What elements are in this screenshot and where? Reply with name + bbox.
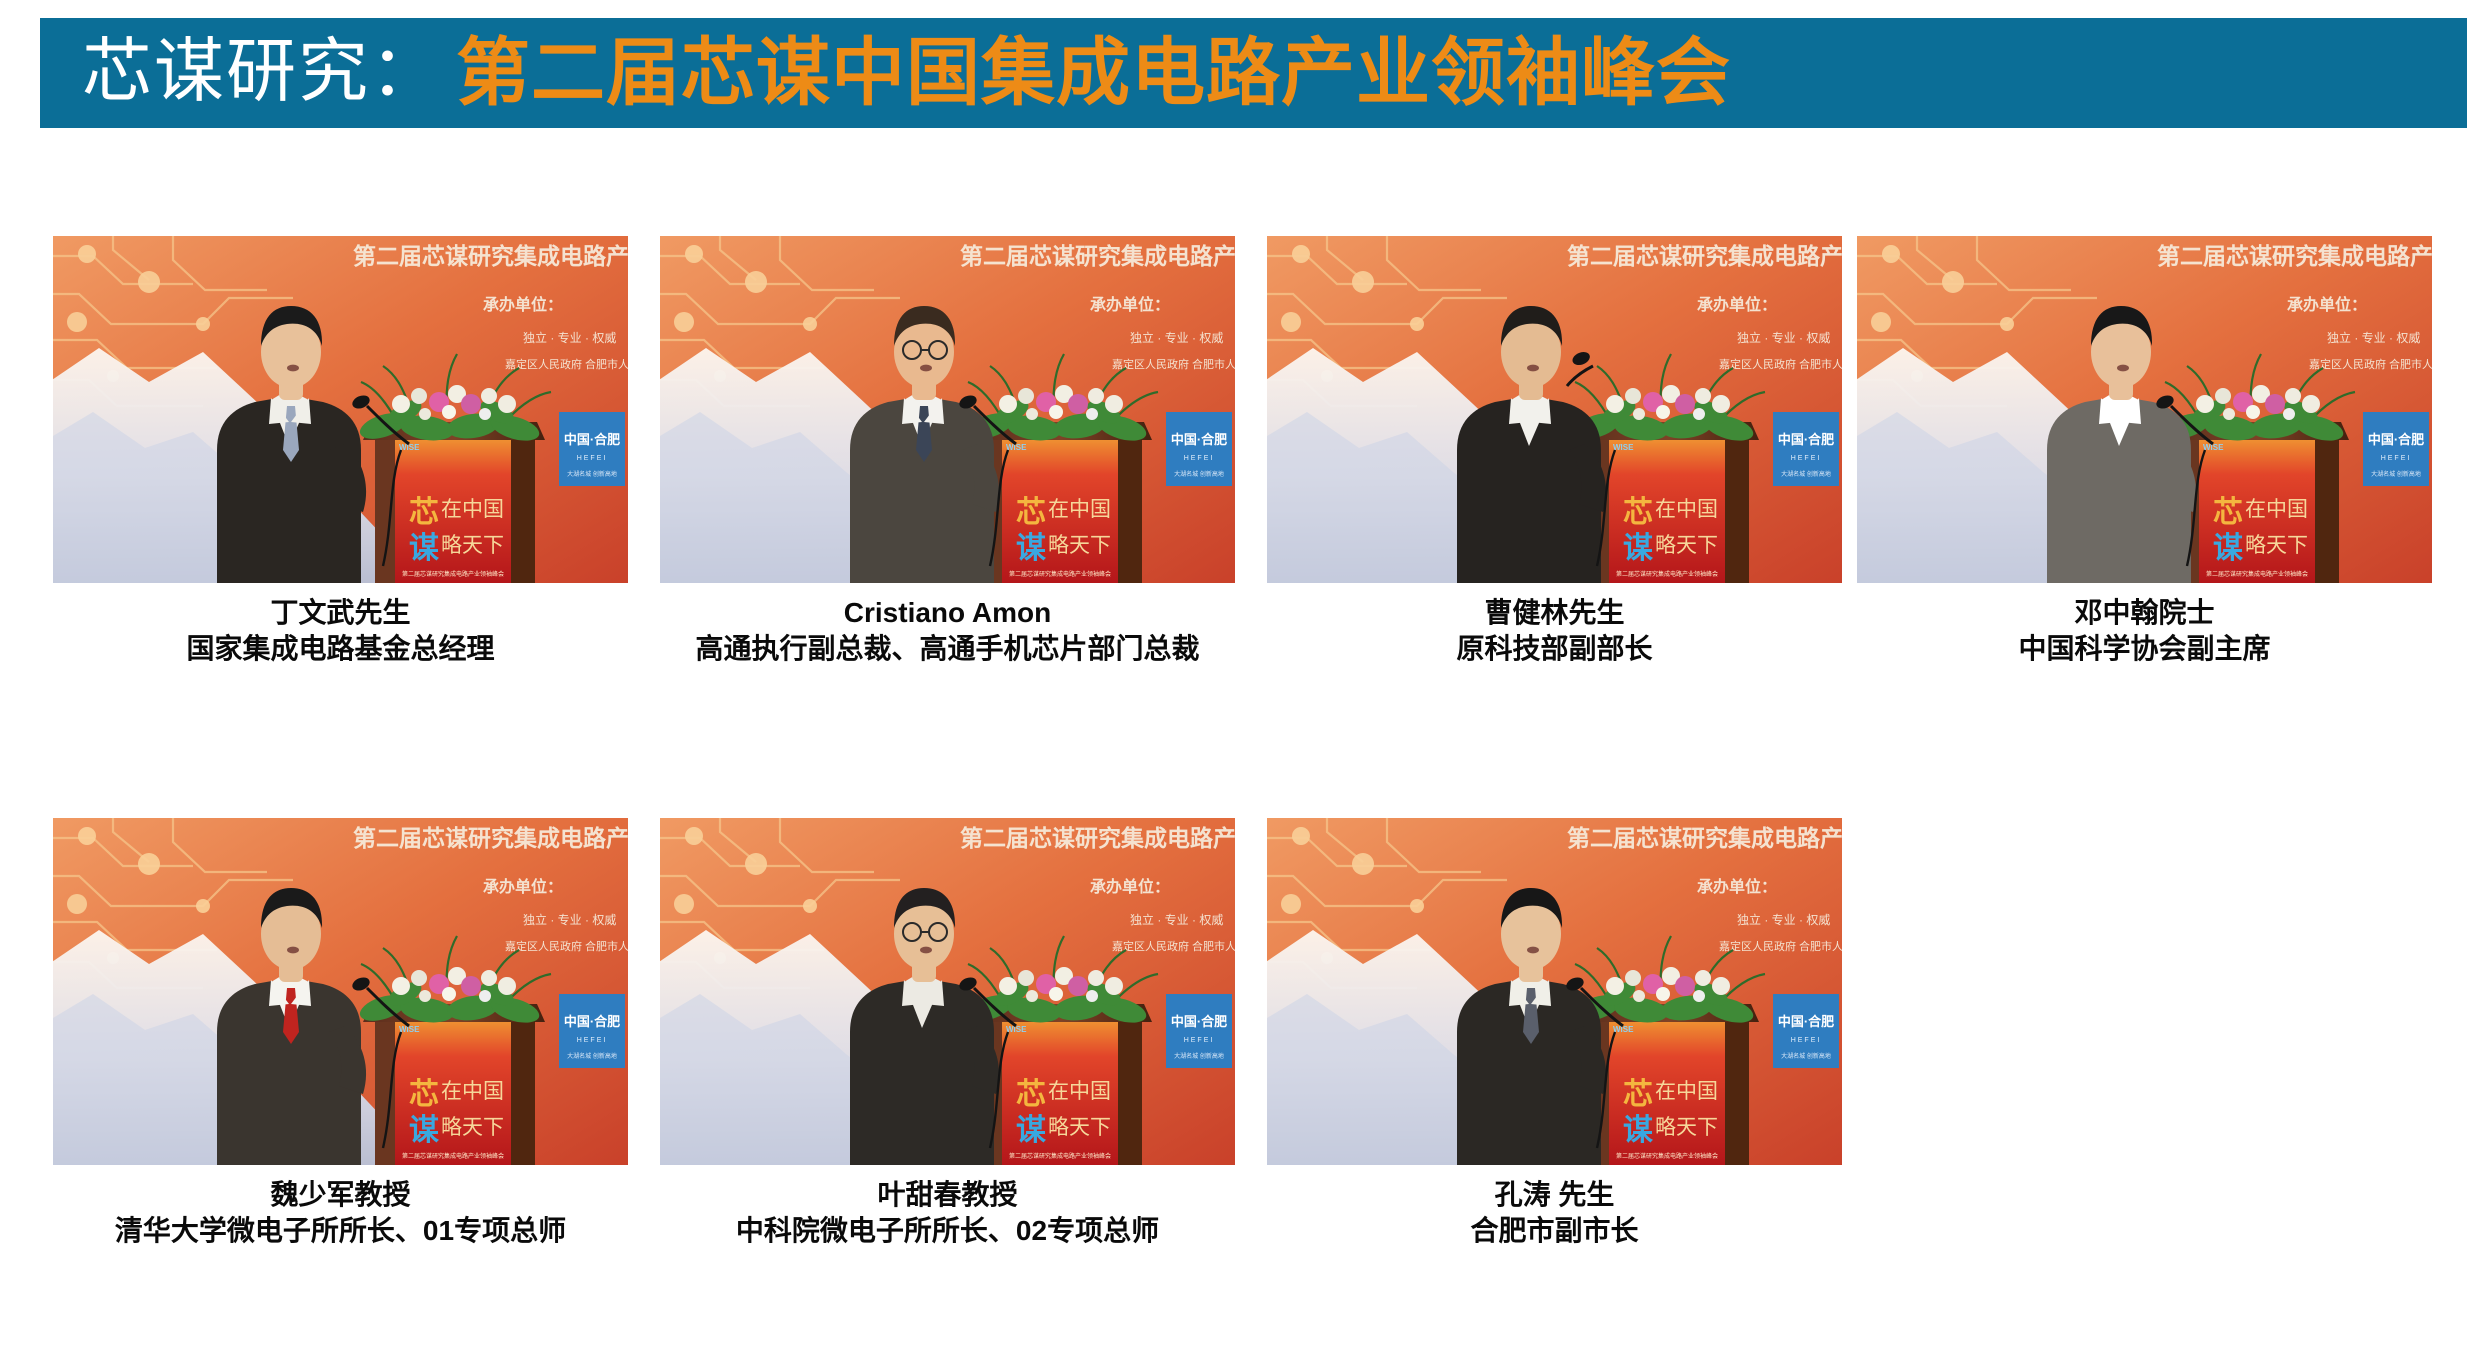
speaker-photo-ye-tianchun: 第二届芯谋研究集成电路产业领袖峰会 承办单位： 独立 · 专业 · 权威 嘉定区… (660, 818, 1235, 1165)
speaker-title: 国家集成电路基金总经理 (53, 631, 628, 667)
speaker-title: 中科院微电子所所长、02专项总师 (660, 1213, 1235, 1249)
svg-text:第二届芯谋研究集成电路产业领袖峰会: 第二届芯谋研究集成电路产业领袖峰会 (1009, 570, 1111, 578)
svg-text:谋: 谋 (1016, 1114, 1047, 1147)
svg-text:中国·合肥: 中国·合肥 (1171, 1014, 1227, 1029)
conference-photo-graphic: 第二届芯谋研究集成电路产业领袖峰会 承办单位： 独立 · 专业 · 权威 嘉定区… (53, 236, 628, 583)
svg-text:略天下: 略天下 (1048, 533, 1111, 557)
svg-text:第二届芯谋研究集成电路产业领袖峰会: 第二届芯谋研究集成电路产业领袖峰会 (2157, 243, 2432, 269)
svg-text:独立 · 专业 · 权威: 独立 · 专业 · 权威 (1130, 912, 1223, 927)
svg-text:嘉定区人民政府 合肥市人民政府: 嘉定区人民政府 合肥市人民政府 (1112, 357, 1235, 371)
svg-text:芯: 芯 (1623, 1078, 1653, 1111)
svg-text:独立 · 专业 · 权威: 独立 · 专业 · 权威 (1737, 330, 1830, 345)
svg-text:WISE: WISE (1613, 1025, 1634, 1034)
conference-photo-graphic: 第二届芯谋研究集成电路产业领袖峰会 承办单位： 独立 · 专业 · 权威 嘉定区… (1267, 236, 1842, 583)
svg-text:大湖名城 创新高地: 大湖名城 创新高地 (567, 1052, 617, 1060)
speaker-photo-cristiano-amon: 第二届芯谋研究集成电路产业领袖峰会 承办单位： 独立 · 专业 · 权威 嘉定区… (660, 236, 1235, 583)
svg-text:承办单位：: 承办单位： (483, 295, 563, 314)
svg-text:第二届芯谋研究集成电路产业领袖峰会: 第二届芯谋研究集成电路产业领袖峰会 (1567, 825, 1842, 851)
speaker-card-kong-tao: 第二届芯谋研究集成电路产业领袖峰会 承办单位： 独立 · 专业 · 权威 嘉定区… (1267, 818, 1842, 1250)
svg-text:承办单位：: 承办单位： (1697, 295, 1777, 314)
slide-title-bar: 芯谋研究： 第二届芯谋中国集成电路产业领袖峰会 (40, 18, 2467, 128)
svg-text:承办单位：: 承办单位： (483, 877, 563, 896)
svg-text:芯: 芯 (2213, 496, 2243, 529)
speaker-caption-deng-zhonghan: 邓中翰院士中国科学协会副主席 (1857, 595, 2432, 668)
svg-text:谋: 谋 (409, 1114, 440, 1147)
title-main: 第二届芯谋中国集成电路产业领袖峰会 (456, 36, 1731, 110)
speaker-name: Cristiano Amon (660, 595, 1235, 631)
svg-text:大湖名城 创新高地: 大湖名城 创新高地 (567, 470, 617, 478)
svg-text:WISE: WISE (1613, 443, 1634, 452)
speaker-title: 合肥市副市长 (1267, 1213, 1842, 1249)
conference-photo-graphic: 第二届芯谋研究集成电路产业领袖峰会 承办单位： 独立 · 专业 · 权威 嘉定区… (660, 818, 1235, 1165)
svg-text:HEFEI: HEFEI (1184, 455, 1215, 462)
speaker-caption-ding-wenwu: 丁文武先生国家集成电路基金总经理 (53, 595, 628, 668)
svg-text:大湖名城 创新高地: 大湖名城 创新高地 (1174, 470, 1224, 478)
conference-photo-graphic: 第二届芯谋研究集成电路产业领袖峰会 承办单位： 独立 · 专业 · 权威 嘉定区… (1267, 818, 1842, 1165)
svg-text:略天下: 略天下 (1655, 1115, 1718, 1139)
svg-text:第二届芯谋研究集成电路产业领袖峰会: 第二届芯谋研究集成电路产业领袖峰会 (960, 825, 1235, 851)
svg-text:在中国: 在中国 (441, 1079, 504, 1103)
speaker-card-deng-zhonghan: 第二届芯谋研究集成电路产业领袖峰会 承办单位： 独立 · 专业 · 权威 嘉定区… (1857, 236, 2432, 668)
svg-text:独立 · 专业 · 权威: 独立 · 专业 · 权威 (2327, 330, 2420, 345)
svg-text:在中国: 在中国 (441, 497, 504, 521)
svg-text:略天下: 略天下 (2245, 533, 2308, 557)
svg-text:略天下: 略天下 (441, 1115, 504, 1139)
speaker-card-ding-wenwu: 第二届芯谋研究集成电路产业领袖峰会 承办单位： 独立 · 专业 · 权威 嘉定区… (53, 236, 628, 668)
svg-text:第二届芯谋研究集成电路产业领袖峰会: 第二届芯谋研究集成电路产业领袖峰会 (402, 570, 504, 578)
svg-text:谋: 谋 (1623, 532, 1654, 565)
svg-text:在中国: 在中国 (2245, 497, 2308, 521)
svg-text:在中国: 在中国 (1048, 1079, 1111, 1103)
svg-text:HEFEI: HEFEI (577, 455, 608, 462)
conference-photo-graphic: 第二届芯谋研究集成电路产业领袖峰会 承办单位： 独立 · 专业 · 权威 嘉定区… (1857, 236, 2432, 583)
svg-text:独立 · 专业 · 权威: 独立 · 专业 · 权威 (523, 912, 616, 927)
title-prefix: 芯谋研究： (82, 38, 442, 108)
svg-text:中国·合肥: 中国·合肥 (564, 432, 620, 447)
svg-text:第二届芯谋研究集成电路产业领袖峰会: 第二届芯谋研究集成电路产业领袖峰会 (402, 1152, 504, 1160)
svg-text:谋: 谋 (409, 532, 440, 565)
conference-photo-graphic: 第二届芯谋研究集成电路产业领袖峰会 承办单位： 独立 · 专业 · 权威 嘉定区… (53, 818, 628, 1165)
svg-text:嘉定区人民政府 合肥市人民政府: 嘉定区人民政府 合肥市人民政府 (505, 357, 628, 371)
speaker-caption-ye-tianchun: 叶甜春教授中科院微电子所所长、02专项总师 (660, 1177, 1235, 1250)
svg-text:嘉定区人民政府 合肥市人民政府: 嘉定区人民政府 合肥市人民政府 (1719, 357, 1842, 371)
speaker-photo-kong-tao: 第二届芯谋研究集成电路产业领袖峰会 承办单位： 独立 · 专业 · 权威 嘉定区… (1267, 818, 1842, 1165)
svg-text:略天下: 略天下 (1048, 1115, 1111, 1139)
svg-text:HEFEI: HEFEI (577, 1037, 608, 1044)
svg-text:芯: 芯 (1623, 496, 1653, 529)
svg-text:WISE: WISE (1006, 1025, 1027, 1034)
svg-text:独立 · 专业 · 权威: 独立 · 专业 · 权威 (1130, 330, 1223, 345)
svg-text:略天下: 略天下 (1655, 533, 1718, 557)
speaker-card-cristiano-amon: 第二届芯谋研究集成电路产业领袖峰会 承办单位： 独立 · 专业 · 权威 嘉定区… (660, 236, 1235, 668)
svg-text:芯: 芯 (1016, 496, 1046, 529)
svg-text:第二届芯谋研究集成电路产业领袖峰会: 第二届芯谋研究集成电路产业领袖峰会 (2206, 570, 2308, 578)
svg-text:略天下: 略天下 (441, 533, 504, 557)
speaker-name: 孔涛 先生 (1267, 1177, 1842, 1213)
svg-text:大湖名城 创新高地: 大湖名城 创新高地 (1174, 1052, 1224, 1060)
svg-text:嘉定区人民政府 合肥市人民政府: 嘉定区人民政府 合肥市人民政府 (2309, 357, 2432, 371)
svg-text:承办单位：: 承办单位： (1090, 295, 1170, 314)
svg-text:在中国: 在中国 (1655, 1079, 1718, 1103)
svg-text:HEFEI: HEFEI (1184, 1037, 1215, 1044)
svg-text:嘉定区人民政府 合肥市人民政府: 嘉定区人民政府 合肥市人民政府 (1112, 939, 1235, 953)
svg-text:HEFEI: HEFEI (2381, 455, 2412, 462)
svg-text:芯: 芯 (409, 1078, 439, 1111)
svg-text:WISE: WISE (1006, 443, 1027, 452)
svg-text:大湖名城 创新高地: 大湖名城 创新高地 (2371, 470, 2421, 478)
speaker-name: 曹健林先生 (1267, 595, 1842, 631)
svg-text:大湖名城 创新高地: 大湖名城 创新高地 (1781, 1052, 1831, 1060)
speaker-photo-ding-wenwu: 第二届芯谋研究集成电路产业领袖峰会 承办单位： 独立 · 专业 · 权威 嘉定区… (53, 236, 628, 583)
svg-text:芯: 芯 (409, 496, 439, 529)
svg-text:HEFEI: HEFEI (1791, 1037, 1822, 1044)
speaker-photo-wei-shaojun: 第二届芯谋研究集成电路产业领袖峰会 承办单位： 独立 · 专业 · 权威 嘉定区… (53, 818, 628, 1165)
svg-text:WISE: WISE (2203, 443, 2224, 452)
svg-text:中国·合肥: 中国·合肥 (1171, 432, 1227, 447)
speaker-card-cao-jianlin: 第二届芯谋研究集成电路产业领袖峰会 承办单位： 独立 · 专业 · 权威 嘉定区… (1267, 236, 1842, 668)
svg-text:中国·合肥: 中国·合肥 (1778, 1014, 1834, 1029)
svg-text:承办单位：: 承办单位： (2287, 295, 2367, 314)
speaker-name: 叶甜春教授 (660, 1177, 1235, 1213)
speaker-title: 中国科学协会副主席 (1857, 631, 2432, 667)
svg-text:中国·合肥: 中国·合肥 (2368, 432, 2424, 447)
svg-text:芯: 芯 (1016, 1078, 1046, 1111)
svg-text:独立 · 专业 · 权威: 独立 · 专业 · 权威 (1737, 912, 1830, 927)
conference-photo-graphic: 第二届芯谋研究集成电路产业领袖峰会 承办单位： 独立 · 专业 · 权威 嘉定区… (660, 236, 1235, 583)
speaker-caption-kong-tao: 孔涛 先生合肥市副市长 (1267, 1177, 1842, 1250)
svg-text:HEFEI: HEFEI (1791, 455, 1822, 462)
svg-text:WISE: WISE (399, 443, 420, 452)
svg-text:承办单位：: 承办单位： (1697, 877, 1777, 896)
svg-text:谋: 谋 (2213, 532, 2244, 565)
svg-text:第二届芯谋研究集成电路产业领袖峰会: 第二届芯谋研究集成电路产业领袖峰会 (353, 825, 628, 851)
svg-text:大湖名城 创新高地: 大湖名城 创新高地 (1781, 470, 1831, 478)
svg-text:中国·合肥: 中国·合肥 (1778, 432, 1834, 447)
speaker-name: 魏少军教授 (53, 1177, 628, 1213)
speaker-card-ye-tianchun: 第二届芯谋研究集成电路产业领袖峰会 承办单位： 独立 · 专业 · 权威 嘉定区… (660, 818, 1235, 1250)
svg-text:嘉定区人民政府 合肥市人民政府: 嘉定区人民政府 合肥市人民政府 (1719, 939, 1842, 953)
svg-text:独立 · 专业 · 权威: 独立 · 专业 · 权威 (523, 330, 616, 345)
svg-text:第二届芯谋研究集成电路产业领袖峰会: 第二届芯谋研究集成电路产业领袖峰会 (1009, 1152, 1111, 1160)
svg-text:在中国: 在中国 (1655, 497, 1718, 521)
speaker-photo-deng-zhonghan: 第二届芯谋研究集成电路产业领袖峰会 承办单位： 独立 · 专业 · 权威 嘉定区… (1857, 236, 2432, 583)
speaker-name: 丁文武先生 (53, 595, 628, 631)
svg-text:中国·合肥: 中国·合肥 (564, 1014, 620, 1029)
svg-text:在中国: 在中国 (1048, 497, 1111, 521)
svg-text:第二届芯谋研究集成电路产业领袖峰会: 第二届芯谋研究集成电路产业领袖峰会 (353, 243, 628, 269)
svg-text:第二届芯谋研究集成电路产业领袖峰会: 第二届芯谋研究集成电路产业领袖峰会 (960, 243, 1235, 269)
speaker-caption-wei-shaojun: 魏少军教授清华大学微电子所所长、01专项总师 (53, 1177, 628, 1250)
speaker-name: 邓中翰院士 (1857, 595, 2432, 631)
svg-text:谋: 谋 (1016, 532, 1047, 565)
speaker-caption-cao-jianlin: 曹健林先生原科技部副部长 (1267, 595, 1842, 668)
svg-text:WISE: WISE (399, 1025, 420, 1034)
svg-text:第二届芯谋研究集成电路产业领袖峰会: 第二届芯谋研究集成电路产业领袖峰会 (1567, 243, 1842, 269)
svg-text:承办单位：: 承办单位： (1090, 877, 1170, 896)
speaker-title: 高通执行副总裁、高通手机芯片部门总裁 (660, 631, 1235, 667)
speaker-caption-cristiano-amon: Cristiano Amon高通执行副总裁、高通手机芯片部门总裁 (660, 595, 1235, 668)
speaker-card-wei-shaojun: 第二届芯谋研究集成电路产业领袖峰会 承办单位： 独立 · 专业 · 权威 嘉定区… (53, 818, 628, 1250)
svg-text:第二届芯谋研究集成电路产业领袖峰会: 第二届芯谋研究集成电路产业领袖峰会 (1616, 1152, 1718, 1160)
speaker-title: 清华大学微电子所所长、01专项总师 (53, 1213, 628, 1249)
speaker-title: 原科技部副部长 (1267, 631, 1842, 667)
svg-text:嘉定区人民政府 合肥市人民政府: 嘉定区人民政府 合肥市人民政府 (505, 939, 628, 953)
svg-text:谋: 谋 (1623, 1114, 1654, 1147)
speaker-photo-cao-jianlin: 第二届芯谋研究集成电路产业领袖峰会 承办单位： 独立 · 专业 · 权威 嘉定区… (1267, 236, 1842, 583)
svg-text:第二届芯谋研究集成电路产业领袖峰会: 第二届芯谋研究集成电路产业领袖峰会 (1616, 570, 1718, 578)
